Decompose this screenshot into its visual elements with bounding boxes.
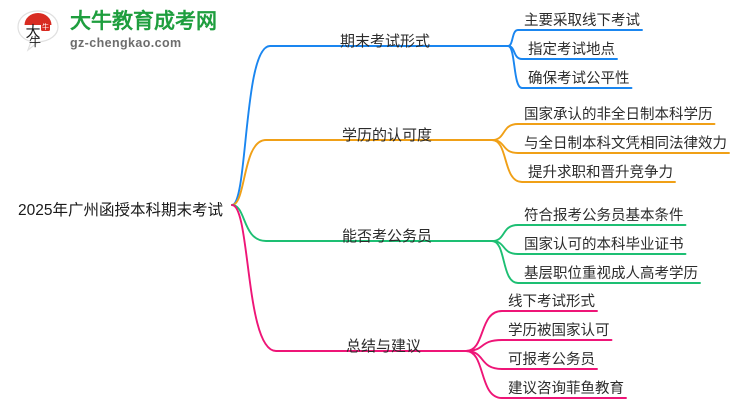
mindmap-leaf-label-2-2: 与全日制本科文凭相同法律效力 — [524, 132, 727, 153]
mindmap-leaf-label-3-2: 国家认可的本科毕业证书 — [524, 233, 684, 254]
mindmap-leaf-label-2-1: 国家承认的非全日制本科学历 — [524, 103, 713, 124]
connector-line — [232, 140, 492, 205]
mindmap-branch-label-4: 总结与建议 — [346, 335, 421, 356]
mindmap-leaf-label-4-2: 学历被国家认可 — [508, 319, 610, 340]
mindmap-root-label: 2025年广州函授本科期末考试 — [18, 198, 223, 220]
mindmap-leaf-label-1-2: 指定考试地点 — [528, 38, 615, 59]
mindmap-leaf-label-4-4: 建议咨询菲鱼教育 — [508, 377, 624, 398]
mindmap-branch-label-2: 学历的认可度 — [342, 124, 432, 145]
mindmap-leaf-label-3-1: 符合报考公务员基本条件 — [524, 204, 684, 225]
mindmap-branch-label-3: 能否考公务员 — [342, 225, 432, 246]
mindmap-leaf-label-1-3: 确保考试公平性 — [528, 67, 630, 88]
mindmap-leaf-label-2-3: 提升求职和晋升竞争力 — [528, 161, 673, 182]
mindmap-leaf-label-4-3: 可报考公务员 — [508, 348, 595, 369]
mindmap-branch-label-1: 期末考试形式 — [340, 30, 430, 51]
mindmap-leaf-label-1-1: 主要采取线下考试 — [524, 9, 640, 30]
mindmap-leaf-label-3-3: 基层职位重视成人高考学历 — [524, 262, 698, 283]
mindmap-leaf-label-4-1: 线下考试形式 — [508, 290, 595, 311]
